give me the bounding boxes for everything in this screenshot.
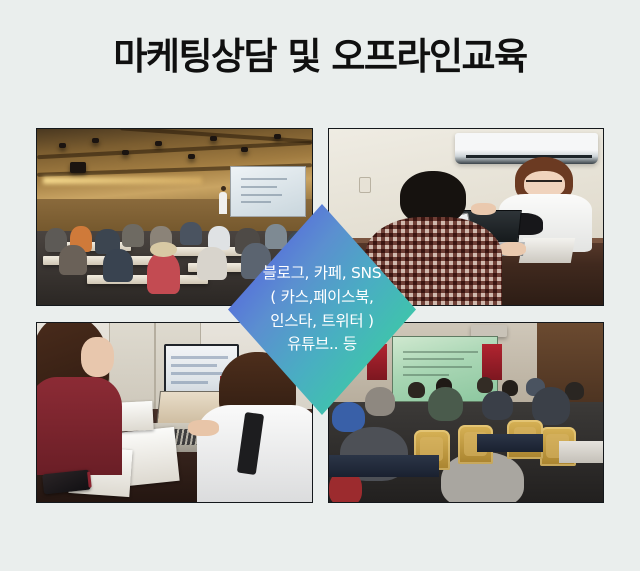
audience-figure — [265, 224, 287, 249]
glasses-icon — [526, 180, 562, 186]
participant-a-body — [36, 377, 122, 475]
track-light-icon — [188, 154, 195, 159]
red-banner — [482, 344, 501, 380]
air-conditioner-icon — [455, 133, 597, 165]
track-light-icon — [210, 136, 217, 141]
table-cloth — [477, 434, 543, 452]
table-cloth — [329, 455, 439, 476]
participant-b-hand — [188, 420, 218, 436]
track-light-icon — [241, 147, 248, 152]
ac-vent — [466, 155, 592, 158]
projector-icon — [70, 162, 86, 173]
audience-figure — [428, 387, 464, 421]
audience-figure — [147, 252, 180, 294]
audience-figure — [482, 391, 512, 420]
audience-figure — [197, 247, 227, 280]
audience-head — [408, 382, 424, 398]
consultant-hand — [471, 203, 496, 215]
track-light-icon — [92, 138, 99, 143]
side-table — [559, 441, 604, 462]
presenter-figure — [219, 192, 227, 214]
wall-switch-icon — [359, 177, 371, 193]
ceiling-light-strip — [43, 177, 203, 184]
track-light-icon — [122, 150, 129, 155]
audience-figure — [103, 249, 133, 282]
client-hand — [499, 242, 526, 256]
projection-screen — [230, 166, 306, 217]
audience-head — [477, 377, 493, 393]
track-light-icon — [155, 141, 162, 146]
smartphone-icon — [42, 469, 91, 493]
page-title-wrap: 마케팅상담 및 오프라인교육 — [0, 36, 640, 79]
audience-figure — [180, 222, 202, 245]
participant-a-face — [81, 337, 114, 376]
audience-figure — [122, 224, 144, 247]
audience-figure — [59, 245, 87, 275]
page-title: 마케팅상담 및 오프라인교육 — [0, 36, 640, 79]
track-light-icon — [59, 143, 66, 148]
promo-banner: 마케팅상담 및 오프라인교육 — [0, 0, 640, 571]
audience-figure — [332, 402, 365, 432]
track-light-icon — [274, 134, 281, 139]
audience-figure — [365, 387, 395, 416]
notebook-paper — [519, 238, 575, 263]
